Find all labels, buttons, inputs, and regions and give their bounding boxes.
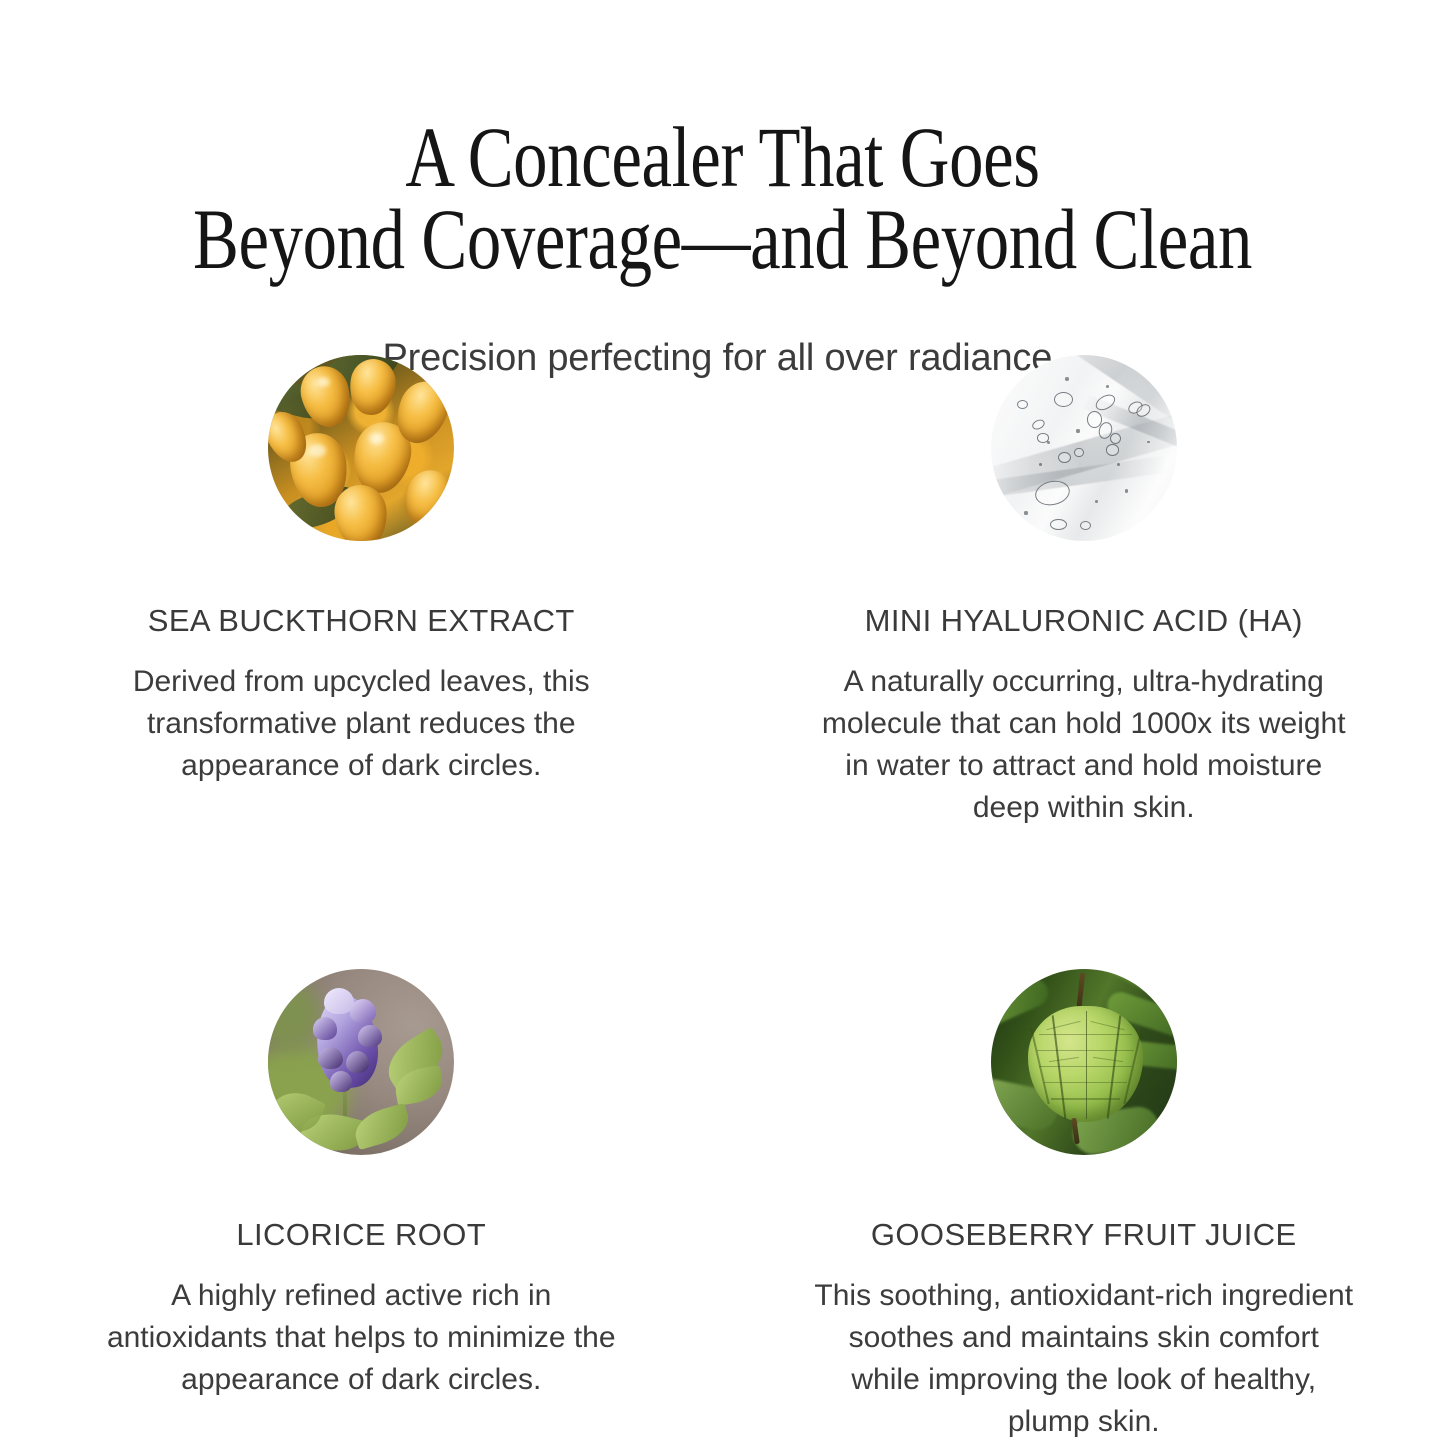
gooseberry-husk [1028, 1006, 1143, 1121]
hyaluronic-acid-gel-photo [991, 355, 1177, 541]
ingredient-card-licorice-root: LICORICE ROOT A highly refined active ri… [0, 969, 723, 1443]
card-title: GOOSEBERRY FRUIT JUICE [871, 1217, 1297, 1253]
ingredient-card-hyaluronic-acid: MINI HYALURONIC ACID (HA) A naturally oc… [723, 355, 1445, 829]
licorice-root-flower-photo [268, 969, 454, 1155]
ingredient-card-sea-buckthorn: SEA BUCKTHORN EXTRACT Derived from upcyc… [0, 355, 723, 829]
gooseberry-fruit-photo [991, 969, 1177, 1155]
headline-line-1: A Concealer That Goes [145, 116, 1301, 198]
card-title: LICORICE ROOT [236, 1217, 486, 1253]
card-title: MINI HYALURONIC ACID (HA) [865, 603, 1303, 639]
ingredient-grid: SEA BUCKTHORN EXTRACT Derived from upcyc… [0, 355, 1445, 1443]
card-description: A highly refined active rich in antioxid… [91, 1275, 631, 1401]
page-header: A Concealer That Goes Beyond Coverage—an… [0, 0, 1445, 380]
card-description: Derived from upcycled leaves, this trans… [91, 661, 631, 787]
card-title: SEA BUCKTHORN EXTRACT [148, 603, 575, 639]
ingredient-card-gooseberry: GOOSEBERRY FRUIT JUICE This soothing, an… [723, 969, 1445, 1443]
sea-buckthorn-berries-photo [268, 355, 454, 541]
ingredient-row-2: LICORICE ROOT A highly refined active ri… [0, 969, 1445, 1443]
page-title: A Concealer That Goes Beyond Coverage—an… [145, 116, 1301, 280]
card-description: This soothing, antioxidant-rich ingredie… [814, 1275, 1354, 1443]
headline-line-2: Beyond Coverage—and Beyond Clean [145, 198, 1301, 280]
card-description: A naturally occurring, ultra-hydrating m… [814, 661, 1354, 829]
ingredient-row-1: SEA BUCKTHORN EXTRACT Derived from upcyc… [0, 355, 1445, 829]
